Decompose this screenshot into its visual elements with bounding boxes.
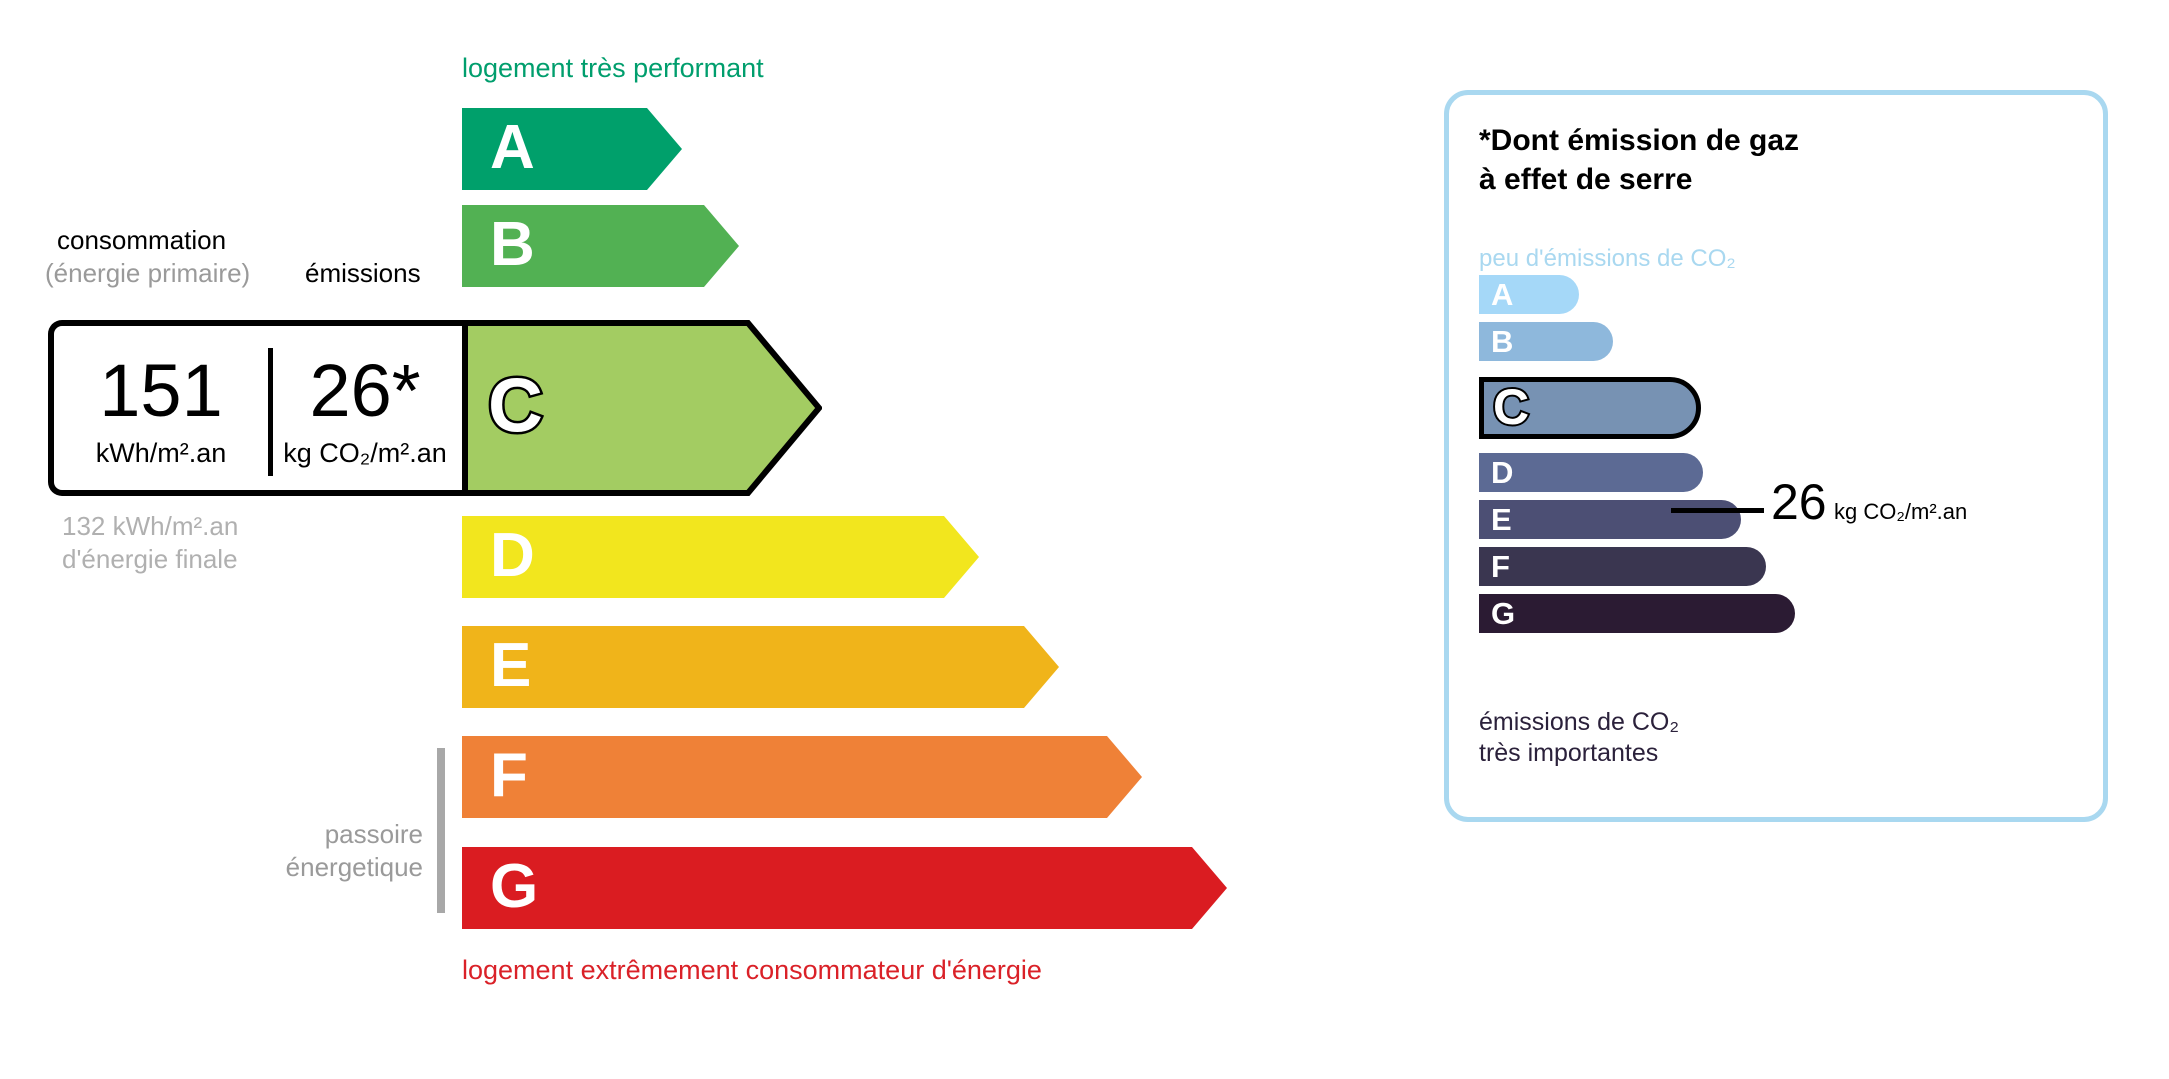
energy-band-d[interactable]: D bbox=[462, 516, 979, 598]
co2-bar-c-selected[interactable]: C bbox=[1479, 377, 1701, 439]
co2-bar-f-fill bbox=[1479, 547, 1766, 586]
co2-bar-a[interactable]: A bbox=[1479, 275, 1579, 314]
consumption-header-line1: consommation bbox=[57, 225, 226, 256]
emissions-value: 26* bbox=[268, 354, 462, 428]
band-d-arrow-shape bbox=[462, 516, 979, 598]
co2-bar-e-fill bbox=[1479, 500, 1741, 539]
co2-bar-g[interactable]: G bbox=[1479, 594, 1795, 633]
co2-panel-title: *Dont émission de gazà effet de serre bbox=[1479, 121, 1799, 199]
band-f-letter: F bbox=[490, 745, 528, 807]
co2-bar-a-letter: A bbox=[1491, 278, 1513, 309]
energy-band-a[interactable]: A bbox=[462, 108, 682, 190]
energy-band-e[interactable]: E bbox=[462, 626, 1059, 708]
energy-band-g[interactable]: G bbox=[462, 847, 1227, 929]
co2-bar-g-fill bbox=[1479, 594, 1795, 633]
co2-leader-line bbox=[1671, 508, 1764, 513]
emissions-unit: kg CO₂/m².an bbox=[268, 438, 462, 469]
emissions-header: émissions bbox=[305, 258, 421, 289]
emissions-cell: 26* kg CO₂/m².an bbox=[268, 326, 462, 490]
band-c-letter: C bbox=[488, 368, 543, 444]
co2-bar-e-letter: E bbox=[1491, 503, 1512, 534]
consumption-cell: 151 kWh/m².an bbox=[54, 326, 268, 490]
passoire-label: passoireénergetique bbox=[255, 818, 423, 885]
scale-top-caption: logement très performant bbox=[462, 53, 764, 84]
band-b-letter: B bbox=[490, 214, 535, 276]
co2-bar-g-letter: G bbox=[1491, 597, 1515, 628]
band-f-arrow-shape bbox=[462, 736, 1142, 818]
value-box: 151 kWh/m².an 26* kg CO₂/m².an bbox=[48, 320, 462, 496]
energy-band-c-selected[interactable]: C bbox=[462, 320, 822, 496]
consumption-header-line2: (énergie primaire) bbox=[45, 258, 250, 289]
energy-performance-scale: logement très performant consommation (é… bbox=[0, 0, 1380, 1079]
co2-value-unit: kg CO₂/m².an bbox=[1834, 499, 1967, 525]
consumption-value: 151 bbox=[54, 354, 268, 428]
co2-bar-c-letter: C bbox=[1493, 382, 1529, 432]
energy-band-b[interactable]: B bbox=[462, 205, 739, 287]
co2-bar-d-letter: D bbox=[1491, 456, 1513, 487]
co2-bar-b-letter: B bbox=[1491, 325, 1513, 356]
band-a-letter: A bbox=[490, 117, 535, 179]
consumption-unit: kWh/m².an bbox=[54, 438, 268, 469]
band-g-arrow-shape bbox=[462, 847, 1227, 929]
co2-bar-e[interactable]: E bbox=[1479, 500, 1741, 539]
co2-bar-f[interactable]: F bbox=[1479, 547, 1766, 586]
co2-bar-d[interactable]: D bbox=[1479, 453, 1703, 492]
energy-band-f[interactable]: F bbox=[462, 736, 1142, 818]
band-g-letter: G bbox=[490, 856, 538, 918]
band-e-letter: E bbox=[490, 635, 531, 697]
passoire-bracket bbox=[437, 748, 445, 913]
band-d-letter: D bbox=[490, 525, 535, 587]
co2-emissions-panel: *Dont émission de gazà effet de serre pe… bbox=[1444, 90, 2108, 822]
scale-bottom-caption: logement extrêmement consommateur d'éner… bbox=[462, 955, 1042, 986]
co2-top-caption: peu d'émissions de CO₂ bbox=[1479, 245, 1736, 273]
co2-bar-b[interactable]: B bbox=[1479, 322, 1613, 361]
co2-bar-f-letter: F bbox=[1491, 550, 1510, 581]
band-e-arrow-shape bbox=[462, 626, 1059, 708]
co2-value: 26 bbox=[1771, 477, 1827, 527]
final-energy-note: 132 kWh/m².and'énergie finale bbox=[62, 510, 238, 577]
co2-bottom-caption: émissions de CO₂très importantes bbox=[1479, 707, 1679, 770]
